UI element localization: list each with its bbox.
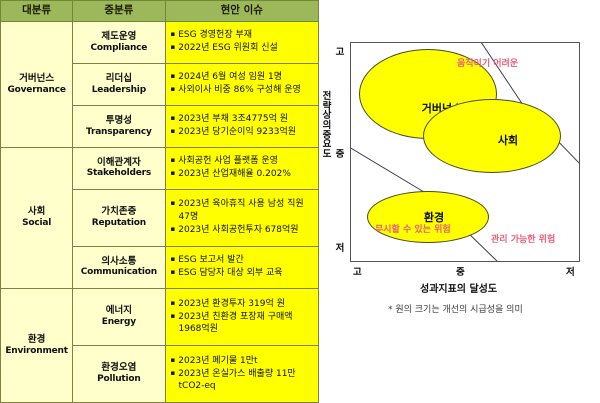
- minor-label-kr: 환경오염: [73, 362, 164, 374]
- minor-label-kr: 제도운영: [73, 31, 164, 43]
- minor-cell-leadership: 리더십 Leadership: [73, 63, 165, 105]
- minor-cell-pollution: 환경오염 Pollution: [73, 345, 165, 402]
- minor-label-kr: 리더십: [73, 73, 164, 85]
- issue-item: 사외이사 비중 86% 구성해 운영: [171, 84, 315, 96]
- issue-list: 사회공헌 사업 플랫폼 운영 2023년 산업재해율 0.202%: [171, 155, 315, 180]
- issue-item: 2023년 산업재해율 0.202%: [171, 168, 315, 180]
- annotation-hard-to-move: 움직이기 어려운: [457, 59, 518, 70]
- major-label-kr: 거버넌스: [1, 73, 72, 85]
- minor-cell-stakeholders: 이해관계자 Stakeholders: [73, 147, 165, 189]
- major-cell-social: 사회 Social: [1, 147, 73, 288]
- issue-list: ESG 경영헌장 부재 2022년 ESG 위원회 신설: [171, 29, 315, 54]
- issue-item: 2023년 온실가스 배출량 11만tCO2-eq: [171, 368, 315, 392]
- minor-label-en: Communication: [73, 267, 164, 278]
- issue-list: 2023년 환경투자 319억 원 2023년 친환경 포장재 구매액 1968…: [171, 298, 315, 335]
- x-tick-middle: 중: [456, 264, 465, 278]
- x-tick-low: 저: [566, 264, 575, 278]
- issue-item: ESG 경영헌장 부재: [171, 29, 315, 41]
- annotation-ignorable-risk: 무시할 수 있는 위험: [375, 225, 451, 236]
- issue-item: 2023년 폐기물 1만t: [171, 355, 315, 367]
- esg-issue-table: 대분류 중분류 현안 이슈 거버넌스 Governance 제도운영 Compl…: [0, 0, 319, 403]
- header-minor: 중분류: [73, 1, 165, 22]
- plot-area: 거버넌스 사회 환경 움직이기 어려운 무시할 수 있는 위험 관리 가능한 위…: [350, 42, 580, 262]
- issue-item: 2023년 부채 3조4775억 원: [171, 113, 315, 125]
- issue-item: 2023년 환경투자 319억 원: [171, 298, 315, 310]
- table-header-row: 대분류 중분류 현안 이슈: [1, 1, 319, 22]
- minor-label-en: Transparency: [73, 127, 164, 138]
- issue-item: 2023년 친환경 포장재 구매액 1968억원: [171, 311, 315, 335]
- minor-label-kr: 투명성: [73, 115, 164, 127]
- minor-cell-energy: 에너지 Energy: [73, 288, 165, 345]
- table-row: 환경 Environment 에너지 Energy 2023년 환경투자 319…: [1, 288, 319, 345]
- issue-cell-stakeholders: 사회공헌 사업 플랫폼 운영 2023년 산업재해율 0.202%: [165, 147, 319, 189]
- minor-cell-reputation: 가치존중 Reputation: [73, 189, 165, 246]
- y-tick-low: 저: [332, 240, 348, 254]
- minor-label-en: Pollution: [73, 374, 164, 385]
- issue-cell-reputation: 2023년 육아휴직 사용 남성 직원 47명 2023년 사회공헌투자 678…: [165, 189, 319, 246]
- issue-list: 2023년 폐기물 1만t 2023년 온실가스 배출량 11만tCO2-eq: [171, 355, 315, 392]
- annotation-manageable-risk: 관리 가능한 위험: [491, 235, 555, 246]
- major-cell-governance: 거버넌스 Governance: [1, 22, 73, 148]
- header-issue: 현안 이슈: [165, 1, 319, 22]
- major-cell-environment: 환경 Environment: [1, 288, 73, 402]
- minor-label-en: Leadership: [73, 85, 164, 96]
- minor-label-kr: 의사소통: [73, 256, 164, 268]
- issue-cell-leadership: 2024년 6월 여성 임원 1명 사외이사 비중 86% 구성해 운영: [165, 63, 319, 105]
- issue-list: ESG 보고서 발간 ESG 담당자 대상 외부 교육: [171, 254, 315, 279]
- issue-cell-energy: 2023년 환경투자 319억 원 2023년 친환경 포장재 구매액 1968…: [165, 288, 319, 345]
- minor-label-en: Compliance: [73, 43, 164, 54]
- issue-item: 2024년 6월 여성 임원 1명: [171, 71, 315, 83]
- issue-cell-communication: ESG 보고서 발간 ESG 담당자 대상 외부 교육: [165, 246, 319, 288]
- y-tick-middle: 중: [332, 146, 348, 160]
- issue-cell-pollution: 2023년 폐기물 1만t 2023년 온실가스 배출량 11만tCO2-eq: [165, 345, 319, 402]
- minor-cell-compliance: 제도운영 Compliance: [73, 22, 165, 64]
- minor-label-en: Stakeholders: [73, 168, 164, 179]
- issue-item: ESG 담당자 대상 외부 교육: [171, 267, 315, 279]
- table-row: 거버넌스 Governance 제도운영 Compliance ESG 경영헌장…: [1, 22, 319, 64]
- issue-list: 2024년 6월 여성 임원 1명 사외이사 비중 86% 구성해 운영: [171, 71, 315, 96]
- major-label-en: Environment: [1, 346, 72, 357]
- minor-label-kr: 가치존중: [73, 206, 164, 218]
- issue-item: 2022년 ESG 위원회 신설: [171, 42, 315, 54]
- minor-cell-transparency: 투명성 Transparency: [73, 105, 165, 147]
- minor-label-en: Reputation: [73, 218, 164, 229]
- y-tick-high: 고: [332, 44, 348, 58]
- issue-cell-transparency: 2023년 부채 3조4775억 원 2023년 당기순이익 9233억원: [165, 105, 319, 147]
- issue-item: 2023년 육아휴직 사용 남성 직원 47명: [171, 198, 315, 222]
- major-label-kr: 환경: [1, 334, 72, 346]
- x-tick-high: 고: [353, 264, 362, 278]
- issue-item: 2023년 사회공헌투자 678억원: [171, 224, 315, 236]
- issue-item: 사회공헌 사업 플랫폼 운영: [171, 155, 315, 167]
- minor-label-kr: 이해관계자: [73, 157, 164, 169]
- header-major: 대분류: [1, 1, 73, 22]
- page-root: 대분류 중분류 현안 이슈 거버넌스 Governance 제도운영 Compl…: [0, 0, 600, 403]
- minor-label-kr: 에너지: [73, 305, 164, 317]
- bubble-label-environment: 환경: [424, 209, 444, 225]
- issue-item: 2023년 당기순이익 9233억원: [171, 126, 315, 138]
- major-label-en: Social: [1, 218, 72, 229]
- chart-footnote: * 원의 크기는 개선의 시급성을 의미: [388, 302, 523, 315]
- minor-label-en: Energy: [73, 317, 164, 328]
- bubble-label-social: 사회: [498, 132, 518, 148]
- bubble-social: 사회: [423, 99, 561, 173]
- issue-cell-compliance: ESG 경영헌장 부재 2022년 ESG 위원회 신설: [165, 22, 319, 64]
- issue-item: ESG 보고서 발간: [171, 254, 315, 266]
- major-label-en: Governance: [1, 85, 72, 96]
- issue-list: 2023년 육아휴직 사용 남성 직원 47명 2023년 사회공헌투자 678…: [171, 198, 315, 235]
- minor-cell-communication: 의사소통 Communication: [73, 246, 165, 288]
- issue-list: 2023년 부채 3조4775억 원 2023년 당기순이익 9233억원: [171, 113, 315, 138]
- x-axis-title: 성과지표의 달성도: [420, 280, 497, 295]
- materiality-matrix-chart: 전략상의중요도 고 중 저 거버넌스 사회 환경 움직이기 어려운 무시할 수 …: [320, 0, 600, 403]
- table-row: 사회 Social 이해관계자 Stakeholders 사회공헌 사업 플랫폼…: [1, 147, 319, 189]
- major-label-kr: 사회: [1, 206, 72, 218]
